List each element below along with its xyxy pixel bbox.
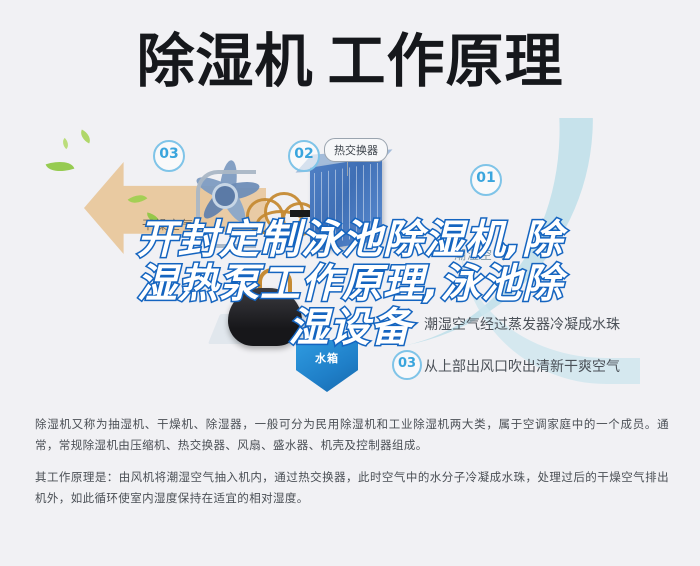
step-badge-02: 02	[288, 140, 320, 172]
heat-exchanger-fins-icon	[314, 163, 378, 245]
caption-badge-03: 03	[392, 350, 422, 380]
compressor-icon	[228, 288, 302, 346]
caption-condensation: 潮湿空气经过蒸发器冷凝成水珠	[424, 314, 620, 334]
page-title: 除湿机工作原理	[0, 28, 700, 94]
leaf-icon	[46, 156, 75, 176]
body-paragraph-2: 其工作原理是：由风机将潮湿空气抽入机内，通过热交换器，此时空气中的水分子冷凝成水…	[35, 467, 669, 509]
leaf-icon	[60, 138, 71, 149]
caption-outlet-air: 从上部出风口吹出清新干爽空气	[424, 356, 620, 376]
heat-exchanger-callout: 热交换器	[324, 138, 388, 162]
article-body: 除湿机又称为抽湿机、干燥机、除湿器，一般可分为民用除湿机和工业除湿机两大类，属于…	[35, 414, 669, 520]
leaf-icon	[78, 129, 94, 143]
page-root: 除湿机工作原理	[0, 0, 700, 566]
water-tank-icon	[296, 340, 358, 392]
dry-air-label: 干燥空气	[142, 216, 194, 233]
page-title-text: 除湿机工作原理	[136, 28, 563, 94]
title-segment-1: 除湿机	[136, 27, 313, 95]
title-segment-2: 工作原理	[328, 27, 564, 95]
dehumidifier-diagram: 水箱 03 02 01 热交换器 干燥空气 潮湿空气 潮湿空气经过蒸发器冷凝成水…	[0, 118, 700, 408]
body-paragraph-1: 除湿机又称为抽湿机、干燥机、除湿器，一般可分为民用除湿机和工业除湿机两大类，属于…	[35, 414, 669, 456]
water-tank-label: 水箱	[296, 350, 358, 366]
step-badge-01: 01	[470, 164, 502, 196]
humid-air-label: 潮湿空气	[454, 246, 506, 263]
step-badge-03: 03	[153, 140, 185, 172]
